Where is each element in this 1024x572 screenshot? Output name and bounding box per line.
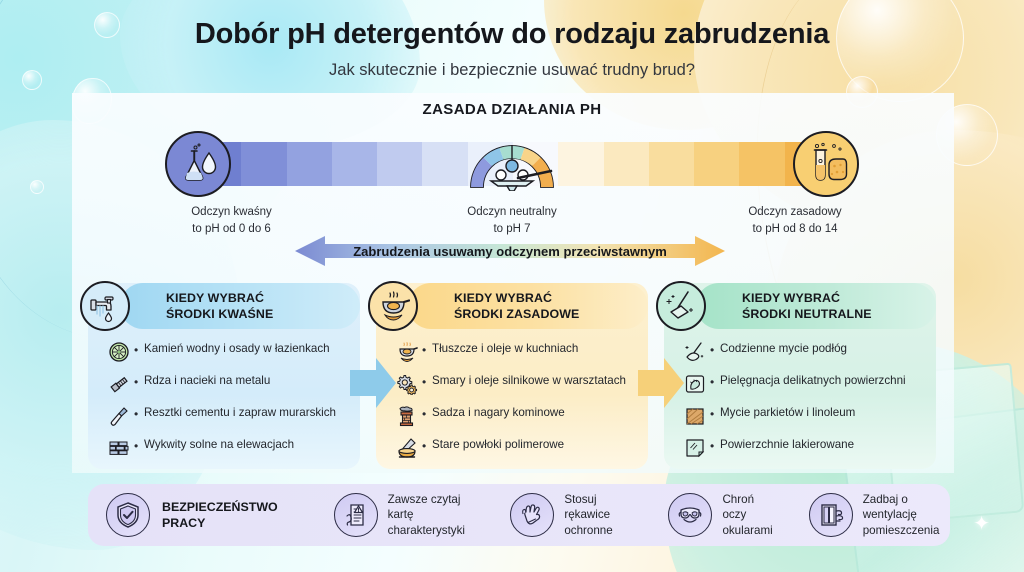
card-neutral[interactable]: KIEDY WYBRAĆ ŚRODKI NEUTRALNE — [664, 283, 936, 469]
infographic-canvas: ✦ ✦ Dobór pH detergentów do rodzaju zabr… — [0, 0, 1024, 572]
rusty-bolt-icon — [104, 371, 134, 396]
label-neutral: Odczyn neutralny to pH 7 — [419, 204, 605, 237]
bullet: • — [710, 403, 720, 422]
safety-item-line1: Chroń oczy — [722, 492, 772, 523]
page-title: Dobór pH detergentów do rodzaju zabrudze… — [0, 18, 1024, 51]
opposite-ph-arrow-text: Zabrudzenia usuwamy odczynem przeciwstaw… — [295, 235, 725, 267]
card-neutral-header: KIEDY WYBRAĆ ŚRODKI NEUTRALNE — [696, 283, 936, 329]
trowel-icon — [104, 403, 134, 428]
safety-item-line1: Zawsze czytaj kartę — [388, 492, 475, 523]
label-alkaline-line2: to pH od 8 do 14 — [700, 221, 890, 238]
frying-pan-icon — [368, 281, 418, 331]
safety-item-line2: pomieszczenia — [863, 523, 950, 538]
ph-scale-segment-12 — [739, 142, 784, 186]
sparkle-icon: ✦ — [973, 514, 990, 534]
safety-item-text: Stosuj rękawice ochronne — [564, 492, 632, 538]
safety-item-gloves: Stosuj rękawice ochronne — [510, 492, 632, 538]
safety-item-text: Zadbaj o wentylację pomieszczenia — [863, 492, 950, 538]
window-airflow-icon — [809, 493, 853, 537]
card-acidic-header: KIEDY WYBRAĆ ŚRODKI KWAŚNE — [120, 283, 360, 329]
ph-scale-segment-11 — [694, 142, 739, 186]
list-item-text: Powierzchnie lakierowane — [720, 435, 854, 452]
ph-scale-segment-10 — [649, 142, 694, 186]
ph-scale-segment-9 — [604, 142, 649, 186]
connector-arrow-alkaline-to-neutral — [638, 356, 684, 410]
bullet: • — [134, 371, 144, 390]
safety-title-line1: BEZPIECZEŃSTWO — [162, 499, 278, 515]
label-acidic: Odczyn kwaśny to pH od 0 do 6 — [139, 204, 324, 237]
goggles-icon — [668, 493, 712, 537]
label-acidic-line1: Odczyn kwaśny — [139, 204, 324, 221]
safety-bar: BEZPIECZEŃSTWO PRACY Zawsze czytaj kartę… — [88, 484, 950, 546]
list-item: • Powierzchnie lakierowane — [680, 435, 926, 460]
lime-slice-icon — [104, 339, 134, 364]
card-neutral-title-line1: KIEDY WYBRAĆ — [742, 290, 872, 306]
background-bubble — [30, 180, 44, 194]
opposite-ph-arrow: Zabrudzenia usuwamy odczynem przeciwstaw… — [295, 235, 725, 267]
safety-item-ventilation: Zadbaj o wentylację pomieszczenia — [809, 492, 950, 538]
lacquered-panel-icon — [680, 435, 710, 460]
mop-floor-icon — [680, 339, 710, 364]
parquet-floor-icon — [680, 403, 710, 428]
list-item-text: Mycie parkietów i linoleum — [720, 403, 855, 420]
wipe-cloth-icon — [680, 371, 710, 396]
safety-item-line2: ochronne — [564, 523, 632, 538]
safety-data-sheet-icon — [334, 493, 378, 537]
safety-item-goggles: Chroń oczy okularami — [668, 492, 772, 538]
list-item-text: Smary i oleje silnikowe w warsztatach — [432, 371, 626, 388]
bullet: • — [422, 403, 432, 422]
bullet: • — [710, 339, 720, 358]
connector-arrow-acidic-to-alkaline — [350, 356, 396, 410]
card-alkaline[interactable]: KIEDY WYBRAĆ ŚRODKI ZASADOWE — [376, 283, 648, 469]
bullet: • — [134, 435, 144, 454]
section-title-ph-principle: ZASADA DZIAŁANIA PH — [0, 101, 1024, 118]
ph-scale-segment-3 — [332, 142, 377, 186]
bullet: • — [134, 339, 144, 358]
safety-title-line2: PRACY — [162, 515, 278, 531]
card-neutral-title-line2: ŚRODKI NEUTRALNE — [742, 306, 872, 322]
list-item-text: Resztki cementu i zapraw murarskich — [144, 403, 336, 420]
list-item-text: Tłuszcze i oleje w kuchniach — [432, 339, 578, 356]
page-subtitle: Jak skutecznie i bezpiecznie usuwać trud… — [0, 61, 1024, 80]
safety-title: BEZPIECZEŃSTWO PRACY — [162, 499, 278, 531]
acid-endcap — [165, 131, 231, 197]
bullet: • — [422, 435, 432, 454]
card-alkaline-title: KIEDY WYBRAĆ ŚRODKI ZASADOWE — [454, 290, 579, 323]
faucet-icon — [80, 281, 130, 331]
gears-oil-icon — [392, 371, 422, 396]
ph-scale-segment-4 — [377, 142, 422, 186]
ph-gauge-balance-icon — [463, 133, 561, 191]
card-acidic-title-line1: KIEDY WYBRAĆ — [166, 290, 273, 306]
card-acidic-list: • Kamień wodny i osady w łazienkach — [104, 339, 350, 467]
list-item: • Sadza i nagary kominowe — [392, 403, 638, 428]
frying-pan-grease-icon — [392, 339, 422, 364]
card-neutral-list: • Codzienne mycie podłóg • Pielęgnacja d… — [680, 339, 926, 467]
card-acidic-title: KIEDY WYBRAĆ ŚRODKI KWAŚNE — [166, 290, 273, 323]
card-neutral-title: KIEDY WYBRAĆ ŚRODKI NEUTRALNE — [742, 290, 872, 323]
list-item: • Resztki cementu i zapraw murarskich — [104, 403, 350, 428]
list-item: • Stare powłoki polimerowe — [392, 435, 638, 460]
card-acidic-title-line2: ŚRODKI KWAŚNE — [166, 306, 273, 322]
header: Dobór pH detergentów do rodzaju zabrudze… — [0, 18, 1024, 80]
label-alkaline-line1: Odczyn zasadowy — [700, 204, 890, 221]
safety-item-line1: Zadbaj o wentylację — [863, 492, 950, 523]
safety-item-text: Chroń oczy okularami — [722, 492, 772, 538]
bullet: • — [710, 371, 720, 390]
safety-item-line2: okularami — [722, 523, 772, 538]
list-item: • Smary i oleje silnikowe w warsztatach — [392, 371, 638, 396]
safety-item-line2: charakterystyki — [388, 523, 475, 538]
bullet: • — [134, 403, 144, 422]
bullet: • — [710, 435, 720, 454]
list-item-text: Pielęgnacja delikatnych powierzchni — [720, 371, 906, 388]
list-item: • Wykwity solne na elewacjach — [104, 435, 350, 460]
chimney-soot-icon — [392, 403, 422, 428]
list-item: • Rdza i nacieki na metalu — [104, 371, 350, 396]
card-alkaline-title-line1: KIEDY WYBRAĆ — [454, 290, 579, 306]
list-item-text: Wykwity solne na elewacjach — [144, 435, 294, 452]
gloves-icon — [510, 493, 554, 537]
shield-check-icon — [106, 493, 150, 537]
card-alkaline-title-line2: ŚRODKI ZASADOWE — [454, 306, 579, 322]
list-item: • Pielęgnacja delikatnych powierzchni — [680, 371, 926, 396]
list-item-text: Kamień wodny i osady w łazienkach — [144, 339, 330, 356]
flask-droplet-icon — [175, 141, 221, 187]
safety-item-text: Zawsze czytaj kartę charakterystyki — [388, 492, 475, 538]
list-item: • Codzienne mycie podłóg — [680, 339, 926, 364]
list-item: • Tłuszcze i oleje w kuchniach — [392, 339, 638, 364]
label-neutral-line1: Odczyn neutralny — [419, 204, 605, 221]
bullet: • — [422, 371, 432, 390]
bullet: • — [422, 339, 432, 358]
list-item: • Mycie parkietów i linoleum — [680, 403, 926, 428]
safety-title-block: BEZPIECZEŃSTWO PRACY — [106, 493, 278, 537]
base-endcap — [793, 131, 859, 197]
ph-scale-segment-2 — [287, 142, 332, 186]
brick-wall-icon — [104, 435, 134, 460]
test-tube-sponge-icon — [803, 141, 849, 187]
list-item-text: Rdza i nacieki na metalu — [144, 371, 270, 388]
safety-item-line1: Stosuj rękawice — [564, 492, 632, 523]
card-alkaline-list: • Tłuszcze i oleje w kuchniach — [392, 339, 638, 467]
list-item-text: Codzienne mycie podłóg — [720, 339, 847, 356]
list-item-text: Sadza i nagary kominowe — [432, 403, 565, 420]
card-alkaline-header: KIEDY WYBRAĆ ŚRODKI ZASADOWE — [408, 283, 648, 329]
ph-scale-segment-1 — [241, 142, 286, 186]
list-item: • Kamień wodny i osady w łazienkach — [104, 339, 350, 364]
ph-scale-segment-5 — [422, 142, 467, 186]
label-alkaline: Odczyn zasadowy to pH od 8 do 14 — [700, 204, 890, 237]
list-item-text: Stare powłoki polimerowe — [432, 435, 564, 452]
safety-item-datasheet: Zawsze czytaj kartę charakterystyki — [334, 492, 475, 538]
paint-bucket-icon — [392, 435, 422, 460]
card-acidic[interactable]: KIEDY WYBRAĆ ŚRODKI KWAŚNE — [88, 283, 360, 469]
mop-sparkle-icon — [656, 281, 706, 331]
ph-scale-segment-8 — [558, 142, 603, 186]
